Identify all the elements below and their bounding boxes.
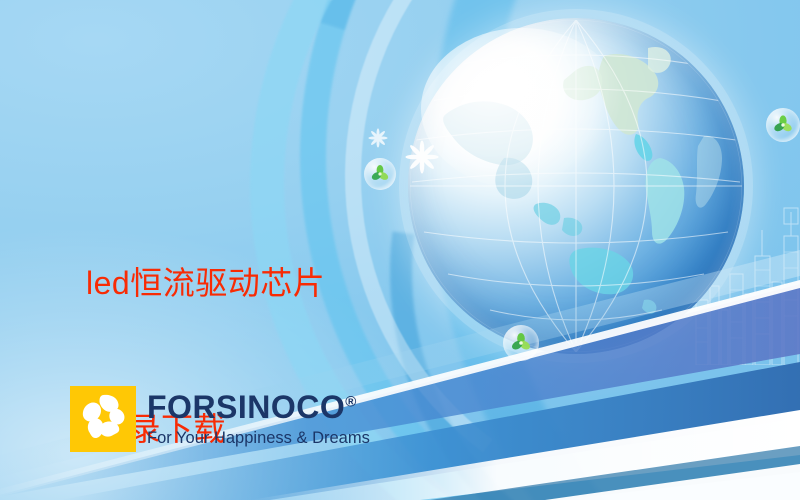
company-logo: FORSINOCO® For Your Happiness & Dreams — [70, 386, 370, 452]
city-skyline-icon — [690, 190, 800, 365]
logo-tagline: For Your Happiness & Dreams — [147, 430, 370, 447]
logo-wordmark: FORSINOCO® — [147, 391, 370, 423]
logo-pinwheel-icon — [70, 386, 136, 452]
promo-banner: led恒流驱动芯片 目录下载 FORSINOCO® For Your H — [0, 0, 800, 500]
globe-continents — [408, 18, 744, 354]
logo-company-name: FORSINOCO — [147, 389, 345, 425]
headline-line-1: led恒流驱动芯片 — [86, 259, 416, 308]
bubble-with-leaf-icon — [503, 325, 539, 361]
registered-trademark-symbol: ® — [345, 394, 356, 411]
globe-graphic — [408, 18, 744, 354]
logo-text-block: FORSINOCO® For Your Happiness & Dreams — [147, 386, 370, 452]
bubble-with-leaf-icon — [766, 108, 800, 142]
globe-rim-glow — [399, 9, 753, 363]
starburst-flower-icon — [368, 128, 388, 148]
globe-sphere — [408, 18, 744, 354]
globe-lat-long-grid — [408, 18, 744, 354]
globe-highlight — [421, 28, 623, 189]
